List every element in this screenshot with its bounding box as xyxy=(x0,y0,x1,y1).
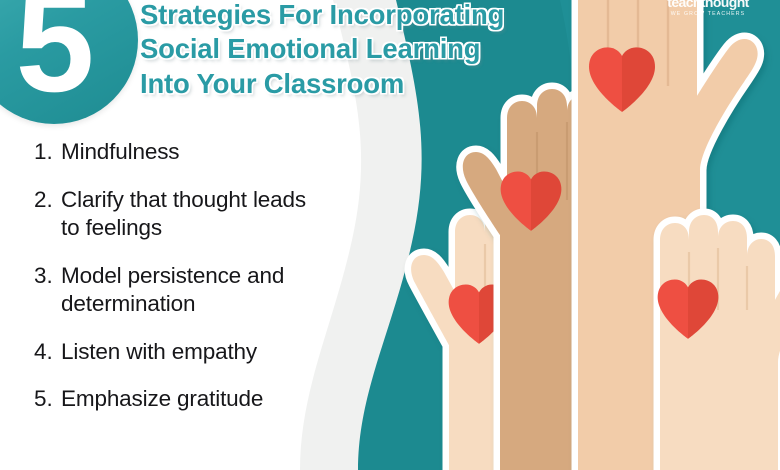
list-item-index: 1. xyxy=(34,138,61,167)
list-item-index: 3. xyxy=(34,262,61,291)
list-item-index: 4. xyxy=(34,338,61,367)
list-item-label: Clarify that thought leads to feelings xyxy=(61,186,324,243)
list-item: 4. Listen with empathy xyxy=(34,338,324,367)
infographic-poster: 5 Strategies For Incorporating Social Em… xyxy=(0,0,780,470)
brand-tagline: WE GROW TEACHERS xyxy=(648,12,768,17)
list-item-index: 5. xyxy=(34,385,61,414)
list-item-label: Model persistence and determination xyxy=(61,262,324,319)
list-item-index: 2. xyxy=(34,186,61,215)
list-item-label: Mindfulness xyxy=(61,138,179,167)
title-line-2: Social Emotional Learning xyxy=(140,32,640,66)
number-badge-value: 5 xyxy=(16,0,91,114)
list-item-label: Listen with empathy xyxy=(61,338,257,367)
title-line-3: Into Your Classroom xyxy=(140,67,640,101)
list-item-label: Emphasize gratitude xyxy=(61,385,263,414)
title-line-1: Strategies For Incorporating xyxy=(140,0,640,32)
page-title: Strategies For Incorporating Social Emot… xyxy=(140,0,640,101)
brand-name: teachthought xyxy=(648,0,768,9)
list-item: 2. Clarify that thought leads to feeling… xyxy=(34,186,324,243)
list-item: 1. Mindfulness xyxy=(34,138,324,167)
list-item: 3. Model persistence and determination xyxy=(34,262,324,319)
list-item: 5. Emphasize gratitude xyxy=(34,385,324,414)
strategy-list: 1. Mindfulness 2. Clarify that thought l… xyxy=(34,138,324,433)
brand-logo: teachthought WE GROW TEACHERS xyxy=(648,0,768,17)
